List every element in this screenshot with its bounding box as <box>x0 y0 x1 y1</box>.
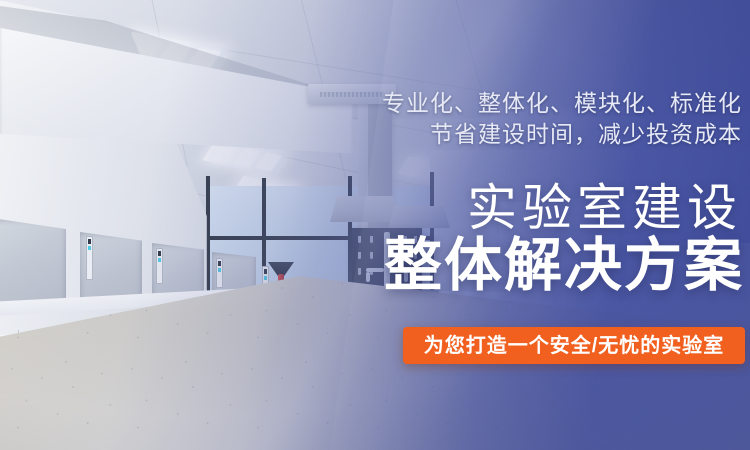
cta-button-label: 为您打造一个安全/无忧的实验室 <box>424 336 725 356</box>
banner-content: 专业化、整体化、模块化、标准化 节省建设时间，减少投资成本 实验室建设 整体解决… <box>0 0 750 450</box>
headline-line-1: 实验室建设 <box>467 180 742 236</box>
promo-banner: 专业化、整体化、模块化、标准化 节省建设时间，减少投资成本 实验室建设 整体解决… <box>0 0 750 450</box>
headline-line-2: 整体解决方案 <box>384 232 744 300</box>
subtitle-line-1: 专业化、整体化、模块化、标准化 <box>382 88 742 119</box>
cta-button[interactable]: 为您打造一个安全/无忧的实验室 <box>403 327 745 364</box>
subtitle-line-2: 节省建设时间，减少投资成本 <box>430 119 742 150</box>
